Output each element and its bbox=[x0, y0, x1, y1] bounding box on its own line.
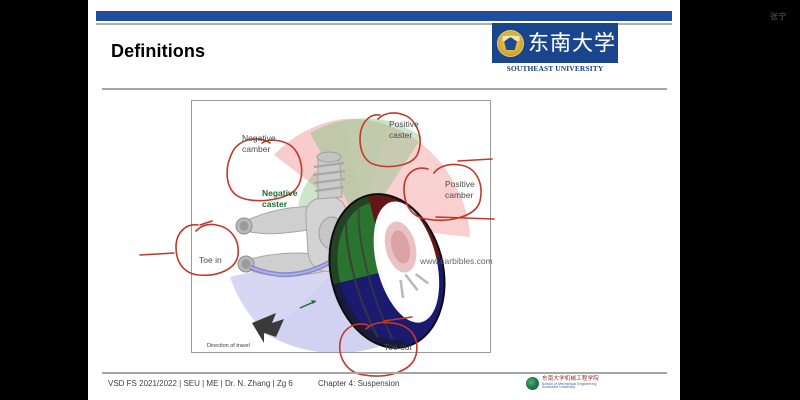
label-positive-caster: Positive caster bbox=[389, 119, 419, 140]
footer-divider bbox=[102, 372, 667, 374]
university-logo-cn: 东南大学 bbox=[528, 33, 616, 54]
presentation-slide: Definitions 东南大学 SOUTHEAST UNIVERSITY bbox=[88, 0, 680, 400]
wheel-alignment-illustration bbox=[192, 101, 490, 352]
slide-accent-bar bbox=[96, 11, 672, 21]
diagram-clip-area bbox=[192, 101, 490, 352]
university-seal-icon bbox=[497, 30, 524, 57]
label-negative-camber: Negative camber bbox=[242, 133, 276, 154]
screen-root: 张宁 Definitions 东南大学 SOUTHEAST UNIVERSITY bbox=[0, 0, 800, 400]
school-logo-en-2: Southeast University bbox=[542, 386, 599, 390]
school-logo-text: 东南大学机械工程学院 School of Mechanical Engineer… bbox=[542, 377, 599, 390]
school-logo: 东南大学机械工程学院 School of Mechanical Engineer… bbox=[526, 377, 599, 390]
wheel-alignment-diagram: Negative camber Positive caster Positive… bbox=[191, 100, 491, 353]
label-positive-camber: Positive camber bbox=[445, 179, 475, 200]
footer-chapter-info: Chapter 4: Suspension bbox=[318, 379, 399, 388]
label-direction-of-travel: Direction of travel bbox=[207, 343, 250, 350]
label-toe-in: Toe in bbox=[199, 255, 222, 266]
diagram-source-url: www.carbibles.com bbox=[420, 256, 493, 266]
page-title: Definitions bbox=[111, 41, 205, 62]
school-logo-icon bbox=[526, 377, 539, 390]
watermark-text: 张宁 bbox=[770, 11, 787, 22]
label-toe-out: Toe out bbox=[384, 342, 412, 353]
university-logo: 东南大学 bbox=[492, 23, 618, 63]
title-divider bbox=[102, 88, 667, 90]
university-logo-en: SOUTHEAST UNIVERSITY bbox=[492, 64, 618, 73]
label-negative-caster: Negative caster bbox=[262, 188, 297, 209]
footer-course-info: VSD FS 2021/2022 | SEU | ME | Dr. N. Zha… bbox=[108, 379, 293, 388]
